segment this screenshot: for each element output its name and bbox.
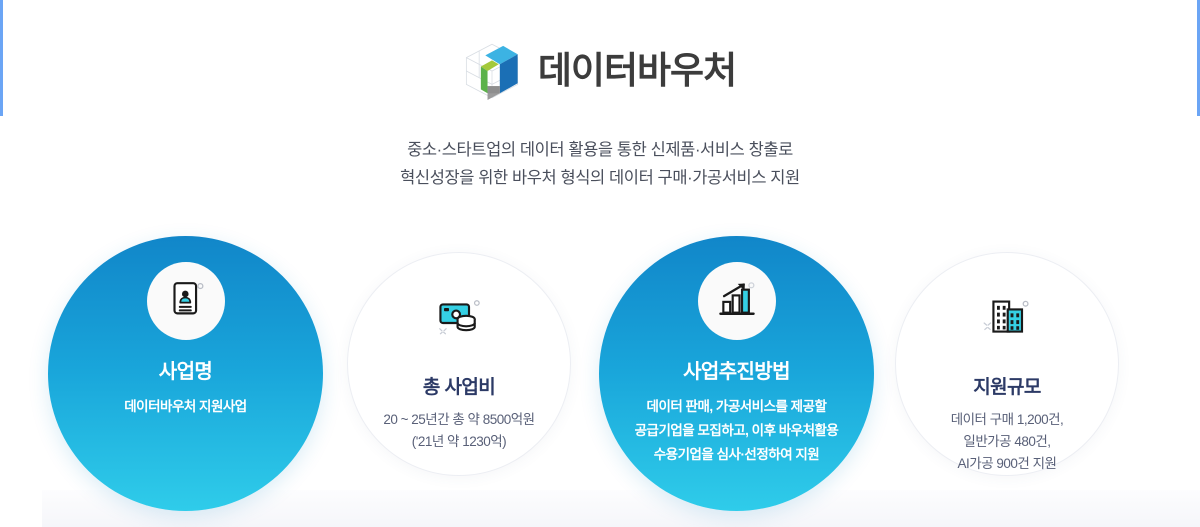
subtitle-line-2: 혁신성장을 위한 바우처 형식의 데이터 구매·가공서비스 지원 xyxy=(0,164,1200,192)
buildings-icon xyxy=(982,296,1032,345)
logo-text: 데이터바우처 xyxy=(538,52,736,91)
slide-canvas: 데이터바우처 중소·스타트업의 데이터 활용을 통한 신제품·서비스 창출로 혁… xyxy=(0,0,1200,527)
icon-badge xyxy=(968,281,1046,359)
icon-badge xyxy=(147,262,225,340)
info-circle-business-name[interactable]: 사업명 데이터바우처 지원사업 xyxy=(48,236,323,511)
circle-desc-line: 공급기업을 모집하고, 이후 바우처활용 xyxy=(635,419,839,443)
info-circle-total-budget[interactable]: 총 사업비 20 ~ 25년간 총 약 8500억원 ('21년 약 1230억… xyxy=(347,252,571,476)
id-card-icon xyxy=(163,276,209,327)
icon-badge xyxy=(420,281,498,359)
circle-title: 총 사업비 xyxy=(423,372,495,399)
circle-description: 데이터 구매 1,200건, 일반가공 480건, AI가공 900건 지원 xyxy=(951,409,1064,475)
circle-desc-line: 20 ~ 25년간 총 약 8500억원 xyxy=(383,409,534,431)
money-cash-coins-icon xyxy=(434,296,484,345)
subtitle-line-1: 중소·스타트업의 데이터 활용을 통한 신제품·서비스 창출로 xyxy=(0,136,1200,164)
circle-description: 20 ~ 25년간 총 약 8500억원 ('21년 약 1230억) xyxy=(383,409,534,453)
circle-desc-line: 데이터 구매 1,200건, xyxy=(951,409,1064,431)
header: 데이터바우처 중소·스타트업의 데이터 활용을 통한 신제품·서비스 창출로 혁… xyxy=(0,40,1200,193)
circle-desc-line: 데이터 판매, 가공서비스를 제공할 xyxy=(635,395,839,419)
circle-title: 지원규모 xyxy=(973,372,1041,399)
info-circle-support-scale[interactable]: 지원규모 데이터 구매 1,200건, 일반가공 480건, AI가공 900건… xyxy=(895,252,1119,476)
bar-chart-growth-icon xyxy=(714,276,760,327)
circle-desc-line: 일반가공 480건, xyxy=(951,431,1064,453)
circle-desc-line: 데이터바우처 지원사업 xyxy=(124,395,246,419)
data-voucher-cube-logo-icon xyxy=(464,42,520,100)
info-circle-promotion-method[interactable]: 사업추진방법 데이터 판매, 가공서비스를 제공할 공급기업을 모집하고, 이후… xyxy=(599,236,874,511)
info-circle-group: 사업명 데이터바우처 지원사업 xyxy=(0,236,1200,516)
circle-description: 데이터바우처 지원사업 xyxy=(124,395,246,419)
circle-title: 사업추진방법 xyxy=(683,355,790,384)
circle-desc-line: ('21년 약 1230억) xyxy=(383,431,534,453)
circle-title: 사업명 xyxy=(159,355,212,384)
logo-row: 데이터바우처 xyxy=(0,40,1200,102)
circle-desc-line: 수용기업을 심사·선정하여 지원 xyxy=(635,443,839,467)
circle-desc-line: AI가공 900건 지원 xyxy=(951,453,1064,475)
icon-badge xyxy=(698,262,776,340)
circle-description: 데이터 판매, 가공서비스를 제공할 공급기업을 모집하고, 이후 바우처활용 … xyxy=(635,395,839,466)
subtitle: 중소·스타트업의 데이터 활용을 통한 신제품·서비스 창출로 혁신성장을 위한… xyxy=(0,136,1200,193)
